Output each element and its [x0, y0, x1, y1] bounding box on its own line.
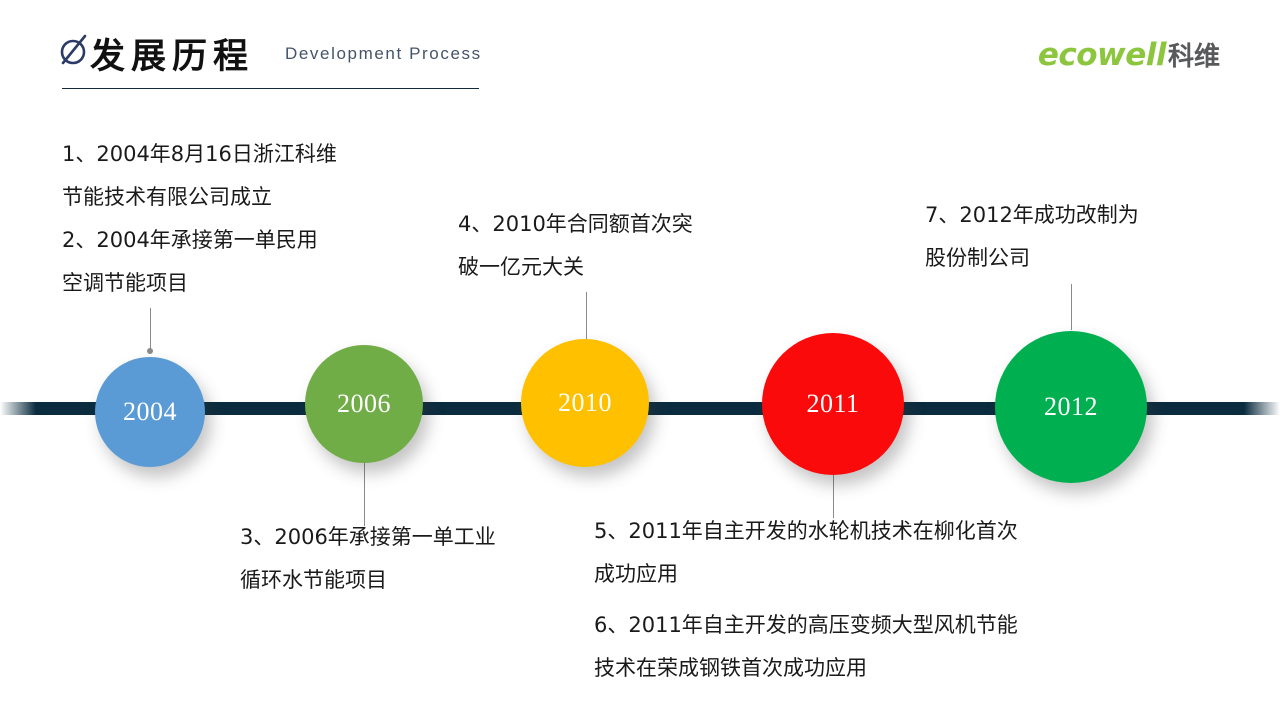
slashed-circle-icon	[59, 33, 89, 67]
milestone-2006[interactable]: 2006	[305, 345, 423, 463]
logo-wordmark-cn: 科维	[1168, 36, 1220, 73]
milestone-year-label: 2011	[806, 391, 859, 417]
note-2011-b: 6、2011年自主开发的高压变频大型风机节能 技术在荣成钢铁首次成功应用	[594, 604, 1164, 690]
milestone-2004[interactable]: 2004	[95, 357, 205, 467]
title-underline	[62, 88, 479, 89]
milestone-year-label: 2006	[337, 391, 391, 417]
milestone-year-label: 2004	[123, 399, 177, 425]
milestone-2010[interactable]: 2010	[521, 339, 649, 467]
leader-line-2010	[586, 292, 587, 344]
slide-canvas: 发展历程 Development Process ecowell 科维 2004…	[0, 0, 1280, 720]
milestone-2011[interactable]: 2011	[762, 333, 904, 475]
note-2010: 4、2010年合同额首次突 破一亿元大关	[458, 203, 778, 289]
page-subtitle: Development Process	[285, 44, 482, 64]
milestone-year-label: 2010	[558, 390, 612, 416]
brand-logo: ecowell 科维	[1038, 36, 1220, 73]
note-2006: 3、2006年承接第一单工业 循环水节能项目	[240, 516, 600, 602]
note-2011-a: 5、2011年自主开发的水轮机技术在柳化首次 成功应用	[594, 510, 1154, 596]
leader-line-2004	[150, 308, 151, 352]
logo-wordmark: ecowell	[1038, 37, 1166, 73]
note-2012: 7、2012年成功改制为 股份制公司	[925, 194, 1225, 280]
note-2004: 1、2004年8月16日浙江科维 节能技术有限公司成立 2、2004年承接第一单…	[62, 133, 462, 305]
leader-line-2012	[1071, 284, 1072, 330]
milestone-2012[interactable]: 2012	[995, 331, 1147, 483]
milestone-year-label: 2012	[1044, 394, 1098, 420]
leader-dot-2004	[147, 348, 153, 354]
page-title: 发展历程	[90, 28, 254, 79]
